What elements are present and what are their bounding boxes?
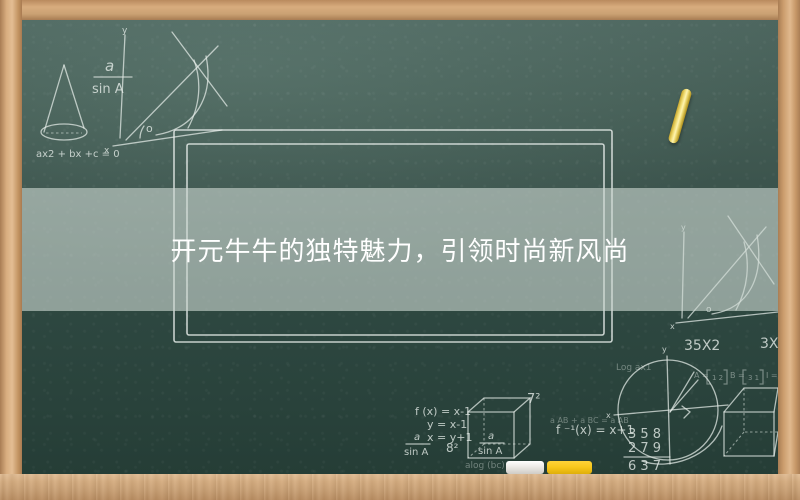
svg-text:sin A: sin A — [92, 82, 124, 97]
chalk-addition-column: 3 5 8 2 7 9 6 3 7 — [624, 427, 670, 474]
chalk-formula-a-over-sinA-lower-mid: a sin A — [478, 431, 504, 457]
svg-text:3 1: 3 1 — [748, 374, 759, 382]
svg-text:o: o — [146, 122, 153, 135]
svg-text:2 7 9: 2 7 9 — [628, 441, 661, 456]
chalk-eight-squared: 8² — [446, 441, 459, 455]
svg-text:sin A: sin A — [478, 446, 503, 457]
chalk-formula-a-over-sinA-lower-left: a sin A — [404, 432, 430, 458]
chalk-formula-a-over-sinA-top: a sin A — [92, 57, 132, 97]
svg-text:x = y+1: x = y+1 — [427, 431, 472, 444]
svg-text:a: a — [488, 431, 494, 442]
chalk-cube-left — [468, 398, 530, 458]
chalk-circle-diagram: y x — [606, 345, 728, 464]
chalk-angle-diagram-left: y x o — [104, 26, 227, 156]
svg-text:f (x) = x-1: f (x) = x-1 — [415, 405, 471, 418]
chalk-multiply-3x2: 3X2 — [760, 336, 778, 352]
white-board-eraser[interactable] — [506, 461, 544, 474]
chalk-inverse-function: f ⁻¹(x) = x+1 — [556, 423, 634, 437]
svg-text:y = x-1: y = x-1 — [427, 418, 467, 431]
svg-text:x: x — [606, 411, 611, 420]
svg-text:sin A: sin A — [404, 447, 429, 458]
chalk-cone-diagram — [41, 65, 87, 140]
svg-text:3 5 8: 3 5 8 — [628, 427, 661, 442]
chalk-log-label: Log ax1 — [616, 363, 652, 373]
svg-text:y: y — [662, 345, 667, 354]
svg-text:x: x — [670, 322, 675, 331]
svg-text:A =: A = — [694, 371, 709, 380]
svg-text:x: x — [104, 146, 110, 156]
chalk-cube-right — [724, 388, 778, 456]
chalk-function-equations: f (x) = x-1 y = x-1 x = y+1 — [415, 405, 472, 444]
frame-right-rail — [778, 0, 800, 500]
svg-text:a: a — [414, 432, 420, 443]
svg-text:6 3 7: 6 3 7 — [628, 459, 661, 474]
chalk-tray — [0, 474, 800, 500]
chalk-log-expression: alog (bc) — [465, 461, 505, 471]
chalk-quadratic-equation: ax2 + bx +c = 0 — [36, 149, 120, 160]
chalk-matrix-row: A = 1 2 B = 3 1 I = — [694, 370, 778, 384]
chalk-multiply-35x2: 35X2 — [684, 338, 720, 354]
frame-left-rail — [0, 0, 22, 500]
svg-text:I =: I = — [766, 371, 778, 380]
chalk-seven-squared: 7² — [527, 392, 540, 407]
chalk-vector-sum: a AB + a BC = a AB — [550, 416, 629, 425]
yellow-board-eraser[interactable] — [547, 461, 592, 474]
svg-text:B =: B = — [730, 371, 745, 380]
headline-text: 开元牛牛的独特魅力，引领时尚新风尚 — [22, 188, 778, 311]
svg-text:y: y — [122, 26, 128, 36]
svg-text:1 2: 1 2 — [712, 374, 723, 382]
svg-text:a: a — [105, 57, 114, 75]
yellow-chalk-stick[interactable] — [667, 88, 692, 145]
frame-top-rail — [0, 0, 800, 20]
chalkboard-banner: .ck { stroke:#e8eeea; stroke-opacity:.72… — [0, 0, 800, 500]
